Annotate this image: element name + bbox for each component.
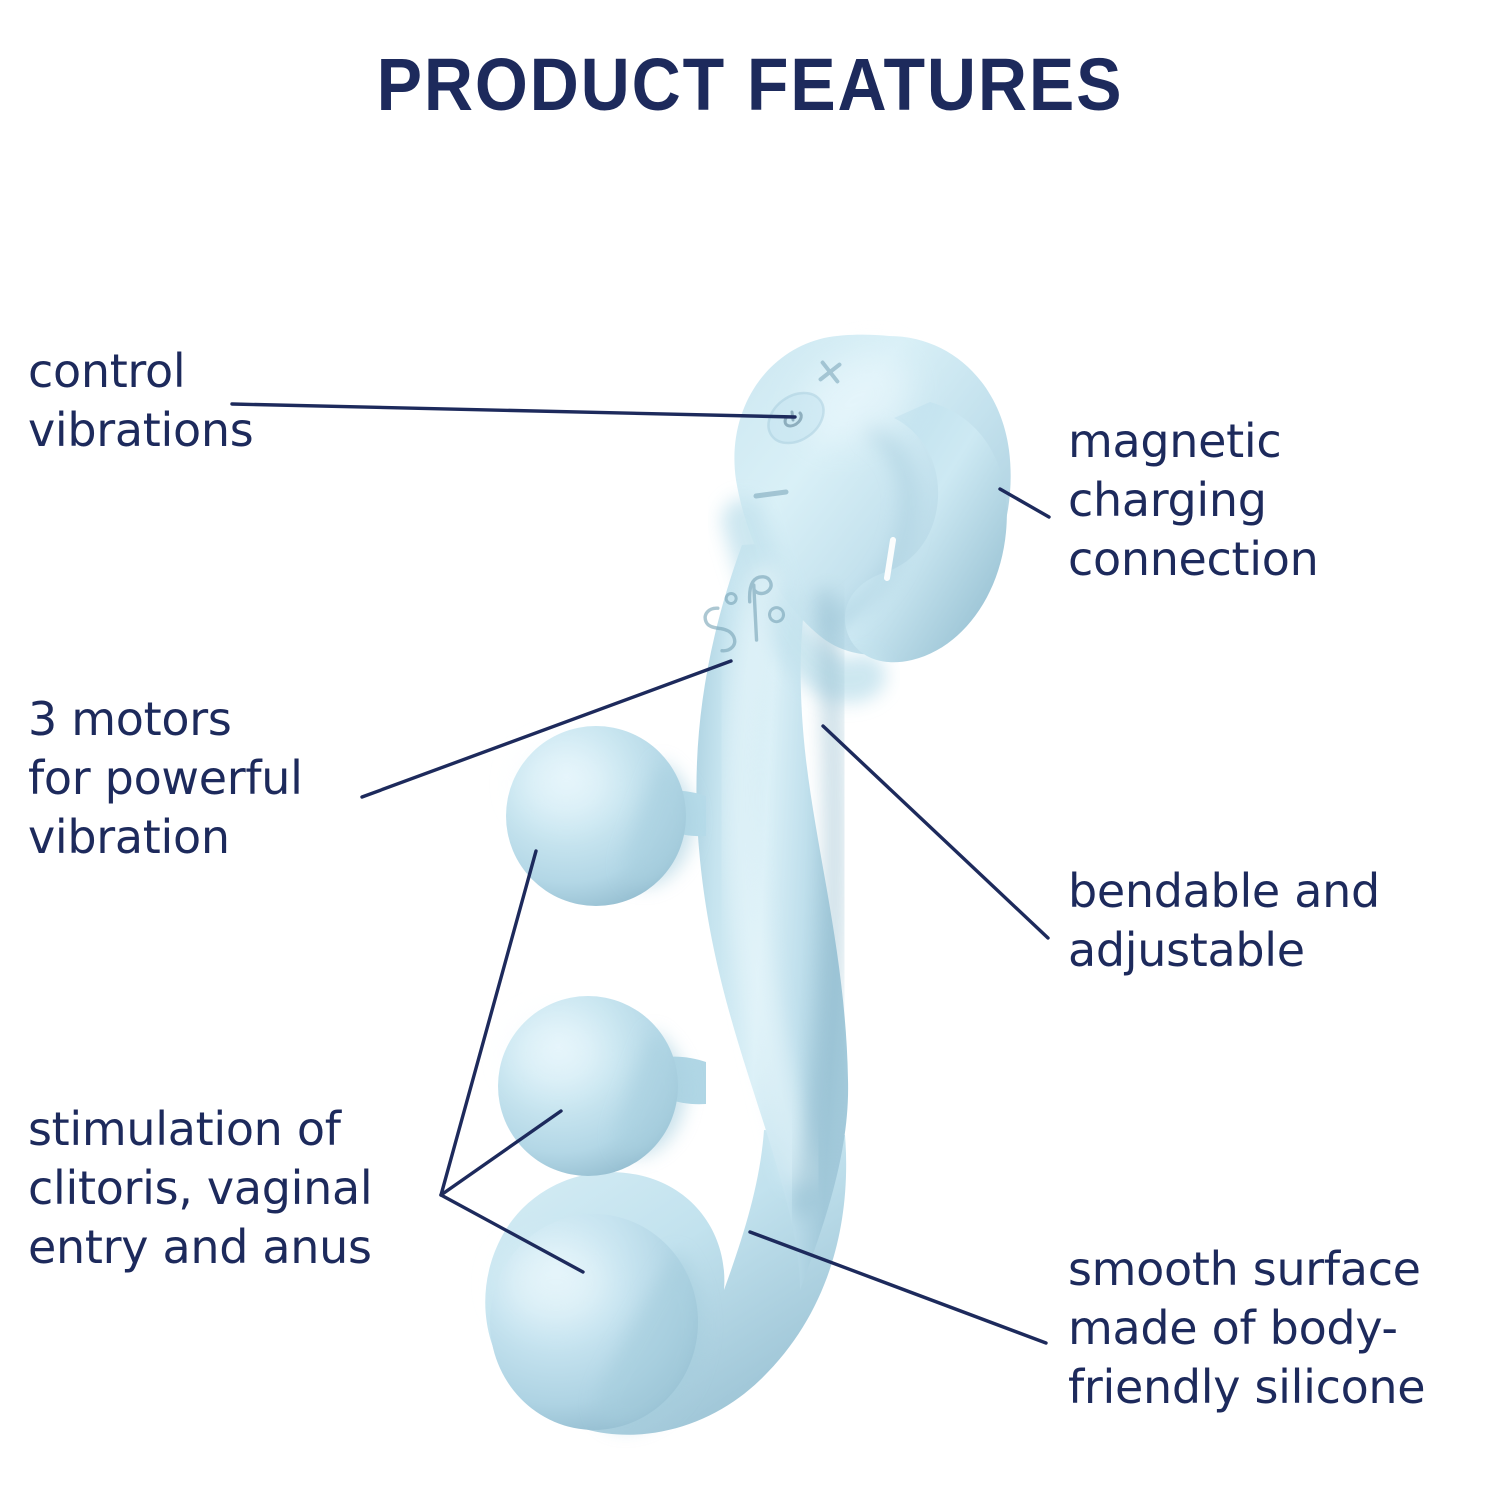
callout-label-control-vibrations: control vibrations (28, 342, 253, 460)
product-body (485, 335, 1010, 1435)
callout-label-bendable: bendable and adjustable (1068, 862, 1380, 980)
diagram-canvas: PRODUCT FEATURES control vibrations 3 mo… (0, 0, 1500, 1500)
page-title: PRODUCT FEATURES (60, 48, 1440, 122)
callout-label-magnetic-charging: magnetic charging connection (1068, 412, 1318, 589)
bead-middle (498, 996, 686, 1176)
callout-label-smooth-surface: smooth surface made of body- friendly si… (1068, 1240, 1425, 1417)
callout-label-stimulation: stimulation of clitoris, vaginal entry a… (28, 1100, 372, 1277)
callout-label-motors: 3 motors for powerful vibration (28, 690, 303, 867)
bead-upper (506, 726, 694, 906)
